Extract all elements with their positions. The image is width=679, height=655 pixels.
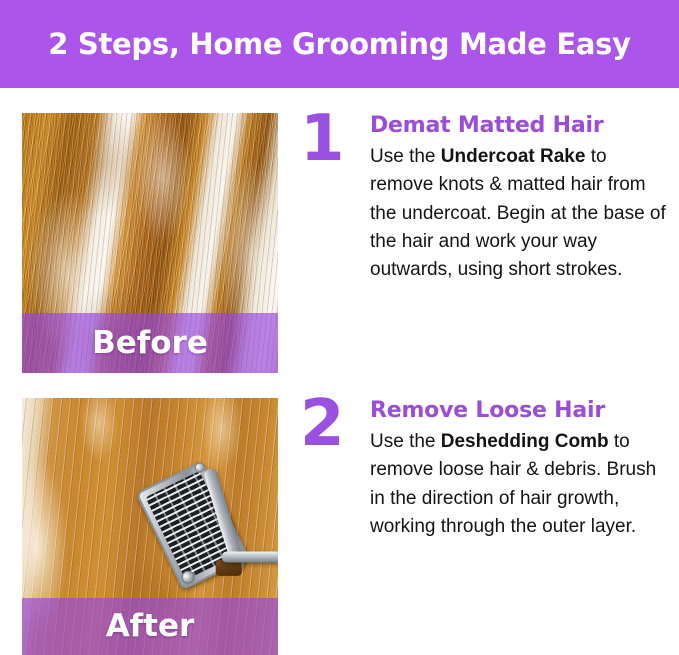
before-label-text: Before xyxy=(92,328,208,359)
before-photo: Before xyxy=(22,113,278,373)
page-title: 2 Steps, Home Grooming Made Easy xyxy=(48,30,631,59)
step-2-text-lead: Use the xyxy=(370,431,441,452)
step-1-bold-term: Undercoat Rake xyxy=(441,146,586,167)
comb-handle xyxy=(222,551,278,562)
step-1-text-lead: Use the xyxy=(370,146,441,167)
step-1-content: Demat Matted Hair Use the Undercoat Rake… xyxy=(370,113,670,284)
before-label-band: Before xyxy=(22,313,278,373)
step-1-description: Use the Undercoat Rake to remove knots &… xyxy=(370,143,670,284)
step-number-1: 1 xyxy=(300,107,358,171)
step-2-content: Remove Loose Hair Use the Deshedding Com… xyxy=(370,398,670,541)
after-label-band: After xyxy=(22,598,278,655)
after-photo: After xyxy=(22,398,278,655)
step-2-heading: Remove Loose Hair xyxy=(370,398,670,423)
step-1-heading: Demat Matted Hair xyxy=(370,113,670,138)
step-2-bold-term: Deshedding Comb xyxy=(441,431,609,452)
after-label-text: After xyxy=(106,611,195,642)
step-number-2: 2 xyxy=(300,392,358,456)
header-banner: 2 Steps, Home Grooming Made Easy xyxy=(0,0,679,88)
step-row-1: Before 1 Demat Matted Hair Use the Under… xyxy=(0,113,679,373)
step-2-description: Use the Deshedding Comb to remove loose … xyxy=(370,428,670,540)
step-row-2: After 2 Remove Loose Hair Use the Deshed… xyxy=(0,398,679,655)
